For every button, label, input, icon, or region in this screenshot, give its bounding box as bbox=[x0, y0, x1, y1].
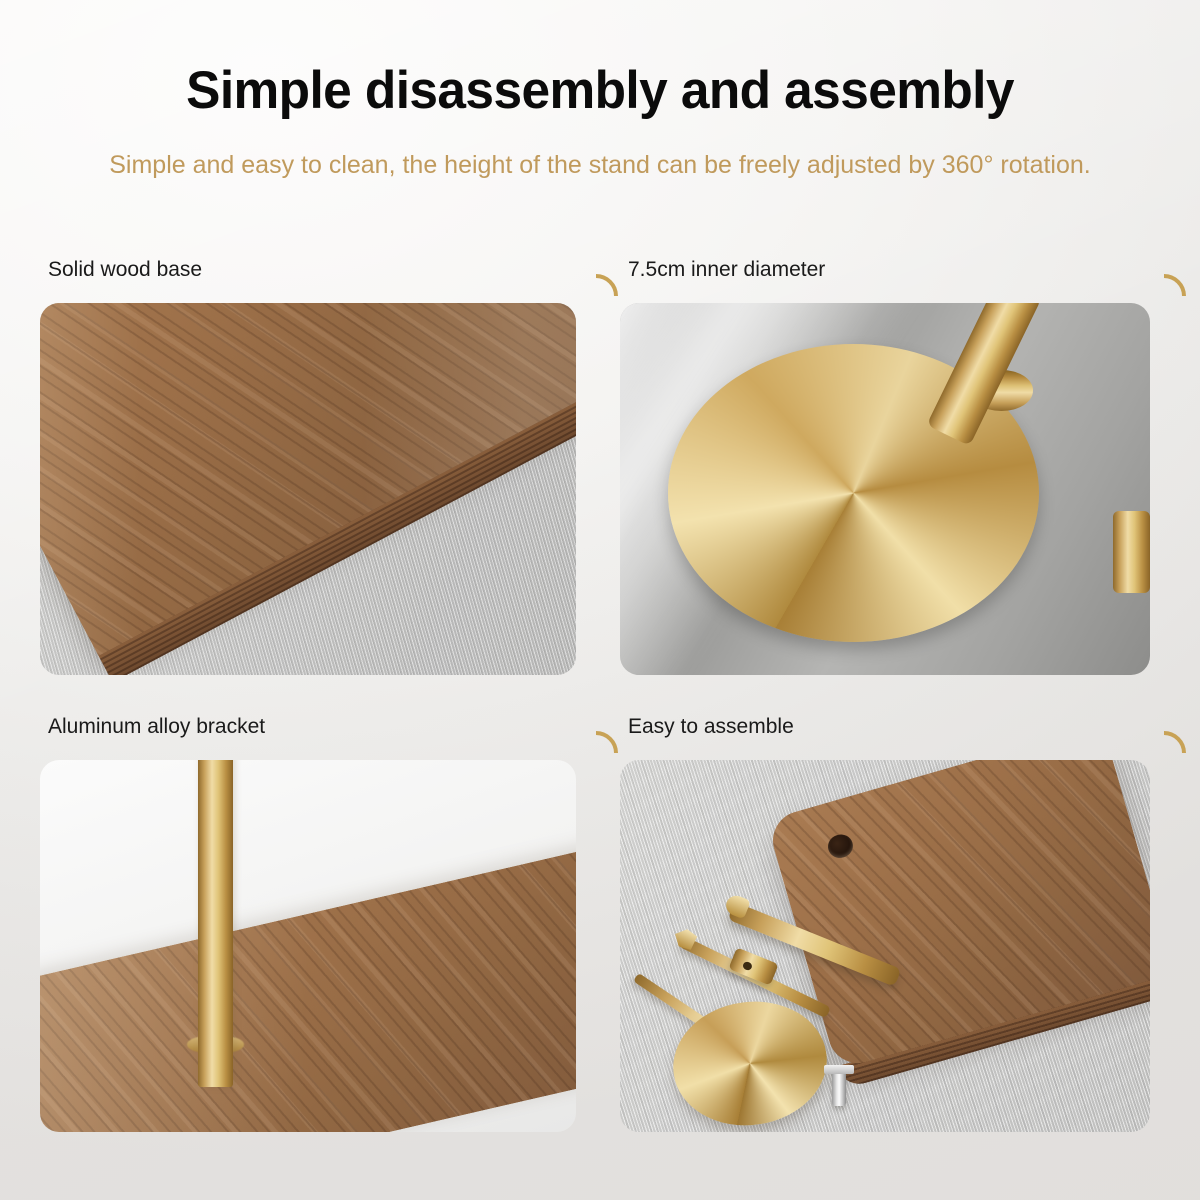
panel-photo-solid-wood-base bbox=[40, 303, 576, 675]
ring-arm-stub bbox=[1113, 511, 1150, 593]
aluminum-pole bbox=[198, 760, 233, 1087]
panel-photo-inner-diameter bbox=[620, 303, 1150, 675]
product-feature-page: Simple disassembly and assembly Simple a… bbox=[0, 0, 1200, 1200]
panel-caption-aluminum-bracket: Aluminum alloy bracket bbox=[48, 715, 265, 739]
panel-caption-solid-wood-base: Solid wood base bbox=[48, 258, 202, 282]
panel-caption-inner-diameter: 7.5cm inner diameter bbox=[628, 258, 825, 282]
screw-head bbox=[824, 1065, 855, 1074]
page-subtitle: Simple and easy to clean, the height of … bbox=[100, 146, 1100, 184]
page-title: Simple disassembly and assembly bbox=[18, 60, 1182, 122]
panel-caption-easy-to-assemble: Easy to assemble bbox=[628, 715, 794, 739]
panel-photo-easy-to-assemble bbox=[620, 760, 1150, 1132]
screw-part bbox=[832, 1069, 846, 1106]
panel-photo-aluminum-bracket bbox=[40, 760, 576, 1132]
